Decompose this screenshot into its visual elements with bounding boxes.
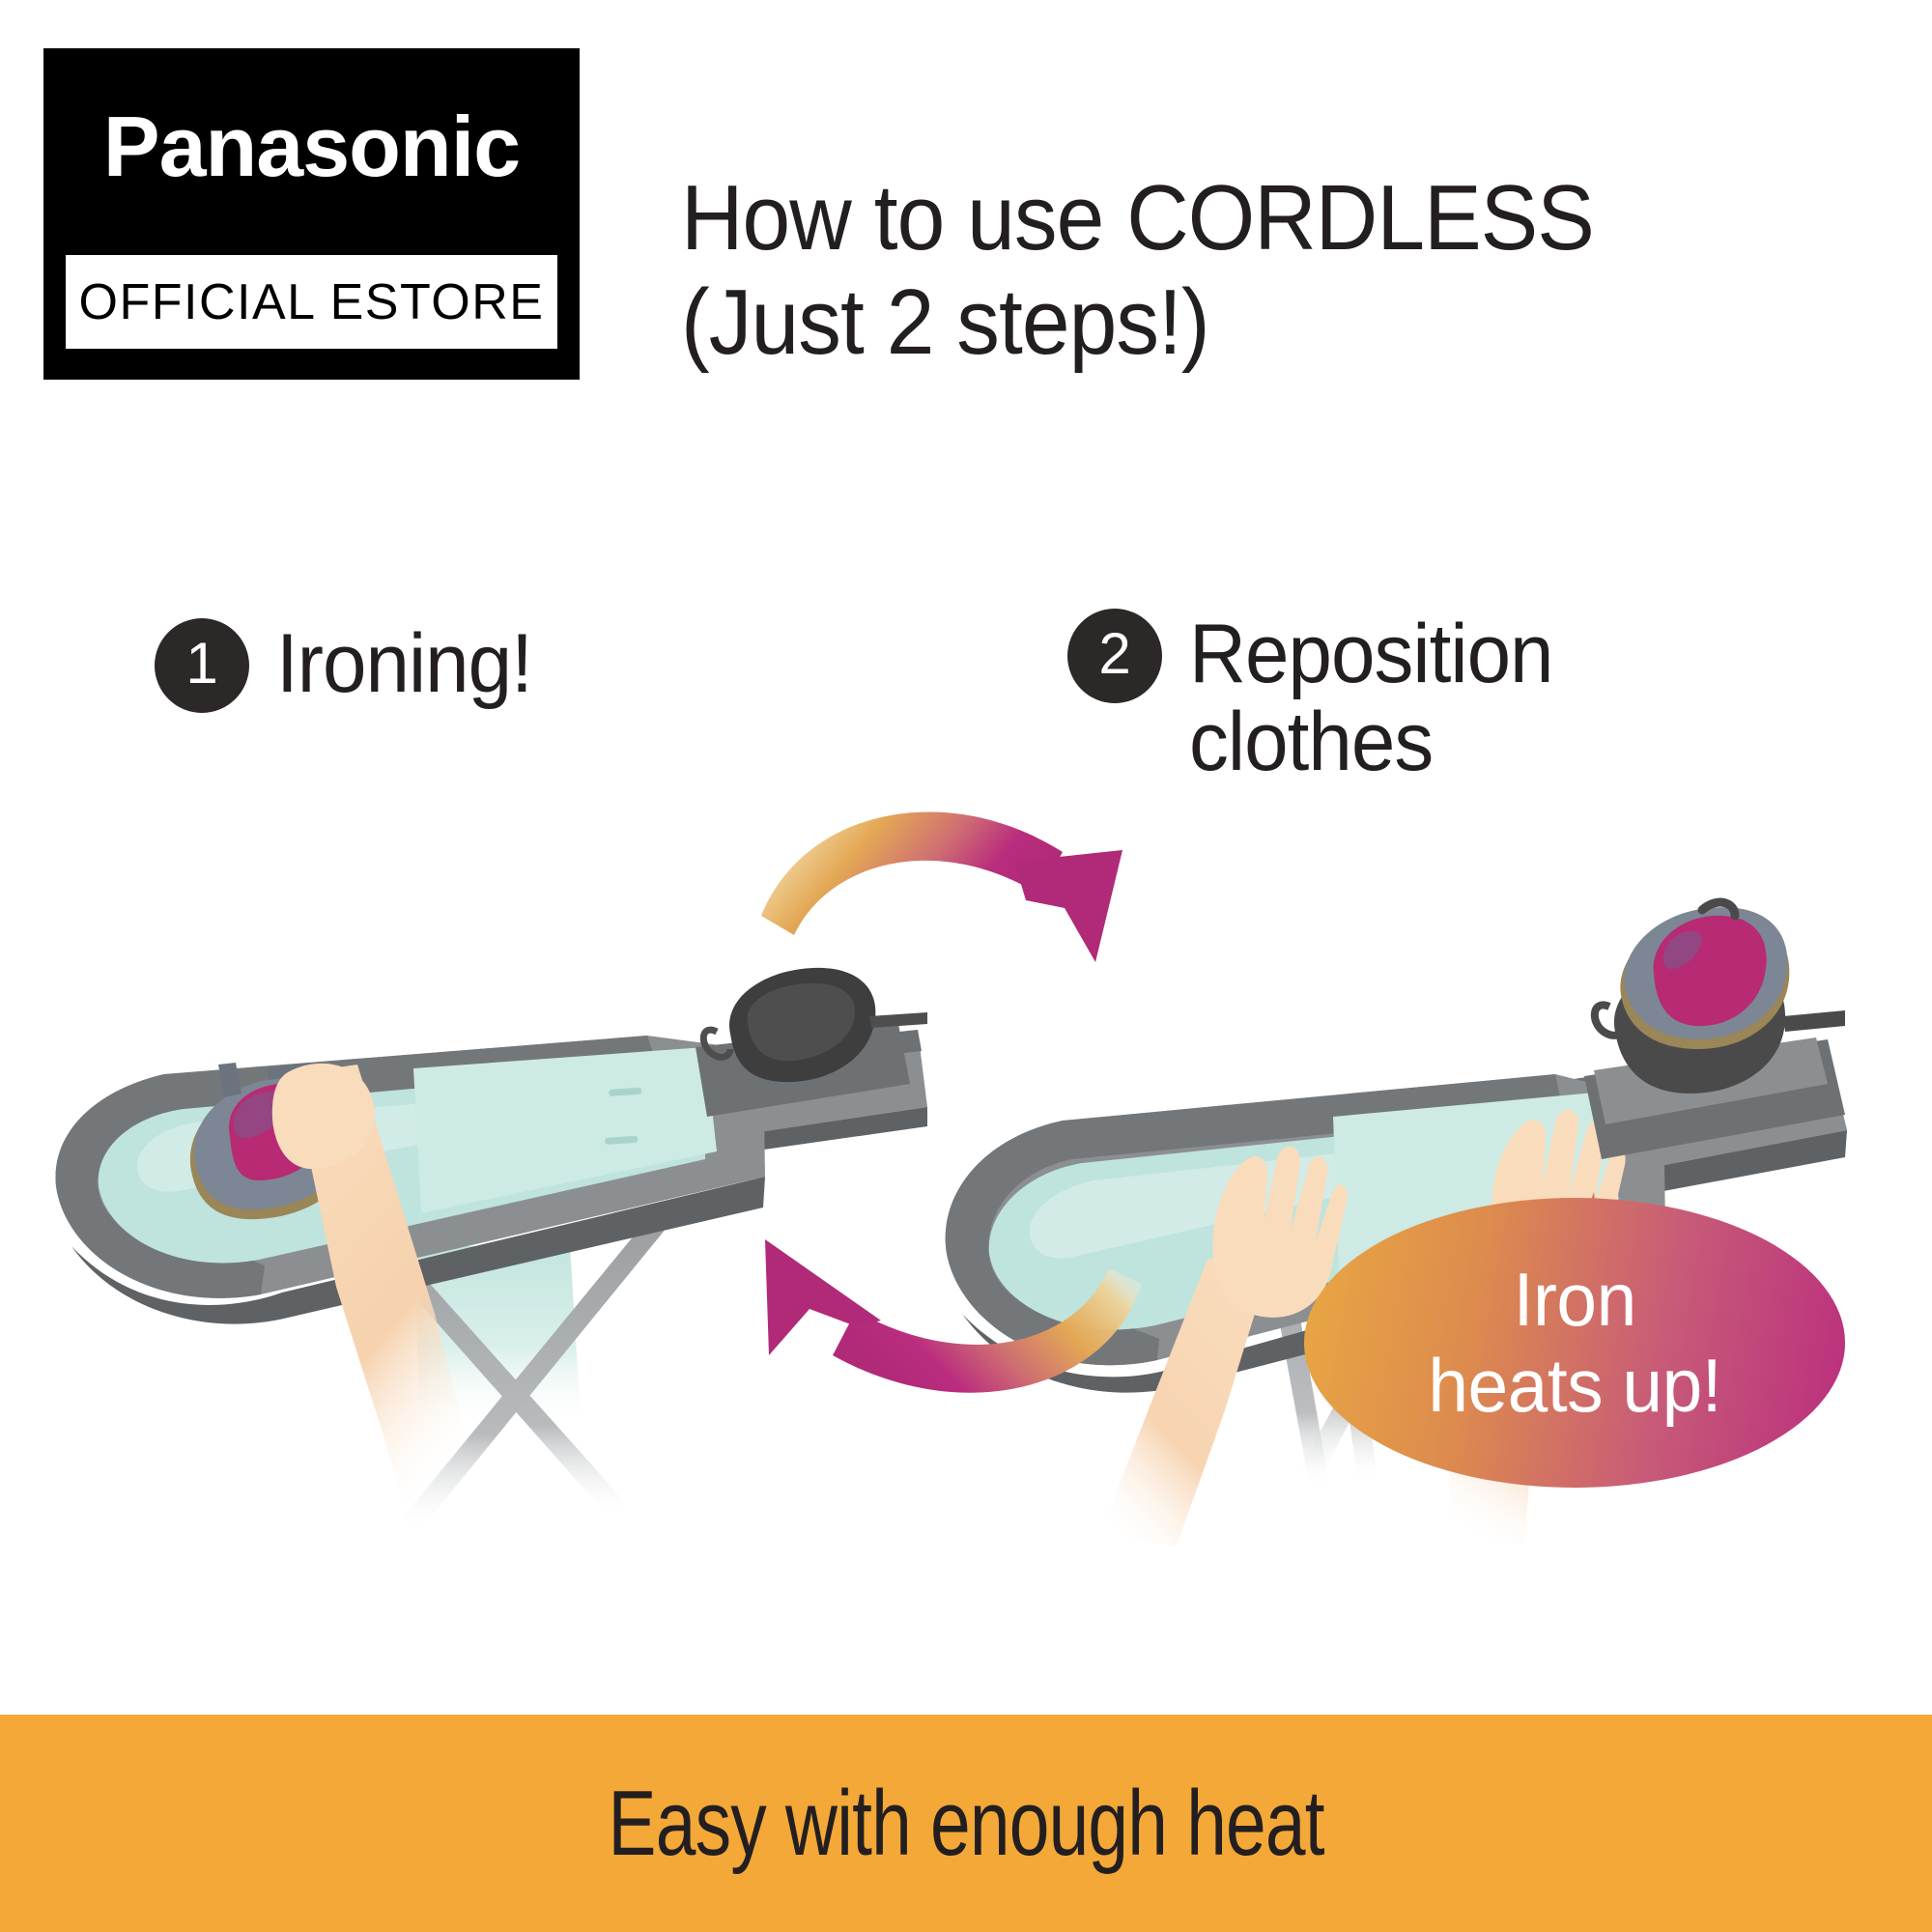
- step-2-heading: 2 Reposition clothes: [1067, 609, 1572, 786]
- page-title: How to use CORDLESS (Just 2 steps!): [681, 166, 1795, 374]
- arrow-forward-head: [1014, 850, 1122, 962]
- page-title-line-1: How to use CORDLESS: [681, 166, 1795, 270]
- iron-heats-up-callout: Iron heats up!: [1304, 1198, 1845, 1488]
- iron-heats-up-callout-text: Iron heats up!: [1428, 1257, 1721, 1429]
- curved-arrow-right-icon: [744, 773, 1169, 995]
- curved-arrow-left-icon: [715, 1212, 1159, 1435]
- step-2-number-badge: 2: [1067, 609, 1162, 703]
- charging-base-cord-loop: [703, 1030, 730, 1057]
- step-1-heading: 1 Ironing!: [155, 618, 546, 713]
- panasonic-logo-block: Panasonic OFFICIAL ESTORE: [43, 48, 580, 380]
- step-2-label: Reposition clothes: [1189, 609, 1553, 786]
- step-1-number-badge: 1: [155, 618, 249, 713]
- arrow-forward-shaft: [761, 811, 1063, 935]
- page-title-line-2: (Just 2 steps!): [681, 270, 1795, 375]
- arrow-back-shaft: [833, 1268, 1142, 1393]
- panasonic-wordmark: Panasonic: [43, 104, 580, 189]
- bottom-banner: Easy with enough heat: [0, 1715, 1932, 1932]
- official-estore-badge: OFFICIAL ESTORE: [66, 255, 557, 349]
- bottom-banner-text: Easy with enough heat: [608, 1771, 1323, 1877]
- official-estore-label: OFFICIAL ESTORE: [79, 273, 545, 331]
- charging-base-with-iron: [1584, 902, 1845, 1159]
- step-1-label: Ironing!: [276, 618, 532, 708]
- charging-base-cord: [1783, 1010, 1845, 1032]
